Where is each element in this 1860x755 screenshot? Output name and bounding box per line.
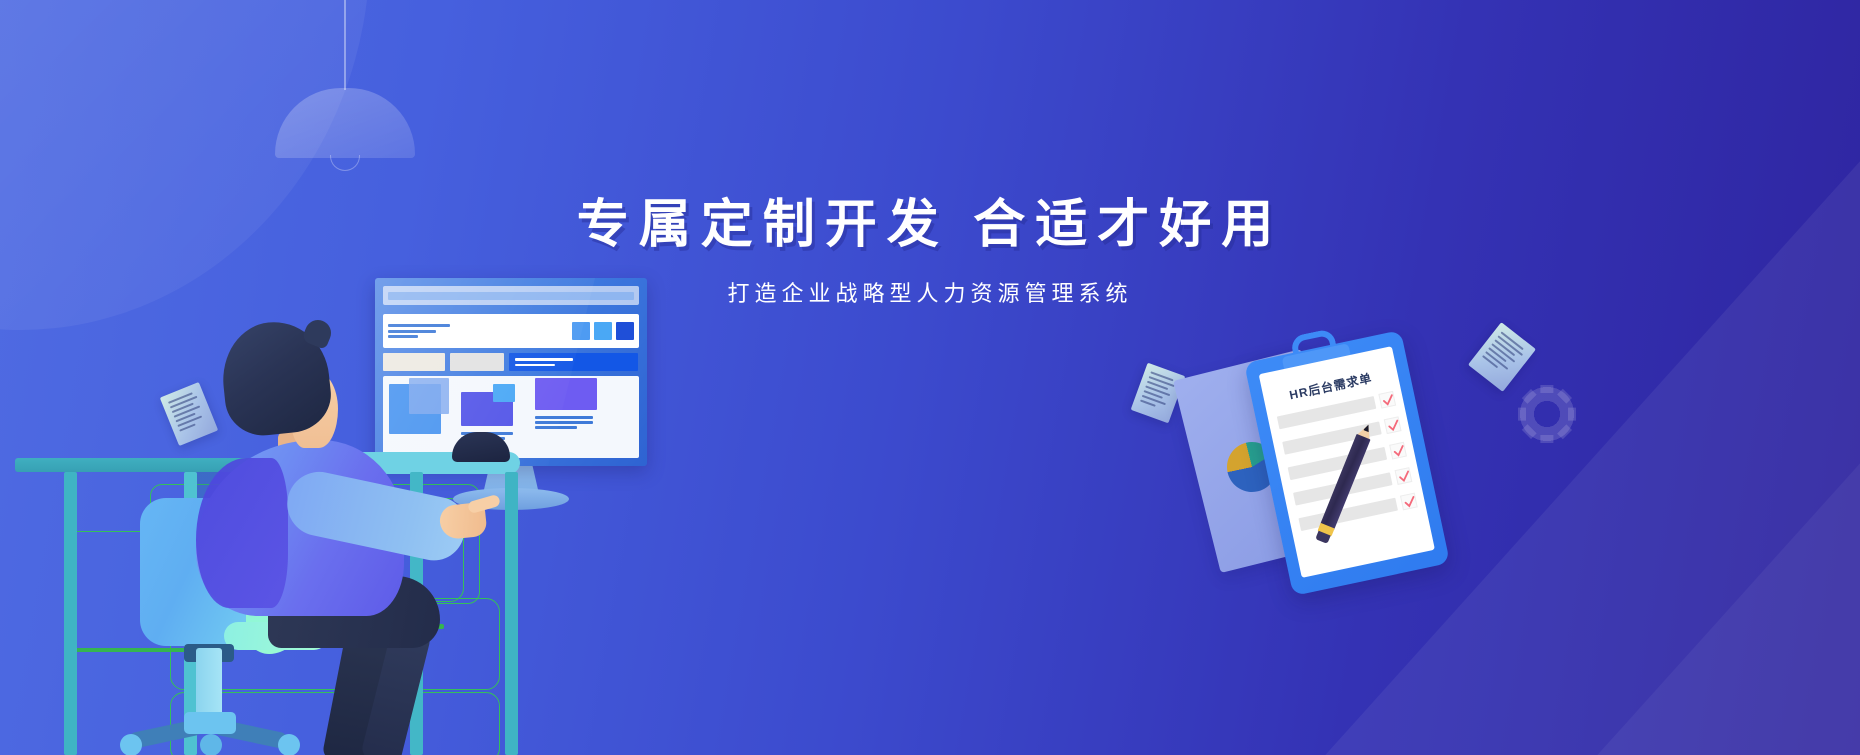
checkbox-checked-icon <box>1378 391 1396 409</box>
headline-block: 专属定制开发 合适才好用 打造企业战略型人力资源管理系统 <box>0 196 1860 308</box>
illustration-developer-at-desk <box>60 300 680 755</box>
toolbar-highlight-block <box>509 353 638 371</box>
chair-wheel <box>120 734 142 755</box>
checkbox-checked-icon <box>1395 467 1413 485</box>
gear-icon <box>1518 385 1576 443</box>
checkbox-checked-icon <box>1384 416 1402 434</box>
color-chip <box>572 322 590 340</box>
checkbox-checked-icon <box>1400 493 1418 511</box>
lamp-cord <box>344 0 346 90</box>
color-chip-group <box>572 322 634 340</box>
person-figure <box>168 308 508 748</box>
illustration-hr-clipboard: HR后台需求单 <box>1185 300 1505 630</box>
color-chip <box>594 322 612 340</box>
checkbox-checked-icon <box>1389 442 1407 460</box>
hero-banner: 专属定制开发 合适才好用 打造企业战略型人力资源管理系统 <box>0 0 1860 755</box>
diagonal-band-shape <box>1488 22 1860 755</box>
banner-subheadline: 打造企业战略型人力资源管理系统 <box>0 276 1860 308</box>
desk-leg <box>64 472 77 755</box>
content-card <box>535 378 597 410</box>
lamp-shade <box>275 88 415 158</box>
color-chip <box>616 322 634 340</box>
banner-headline: 专属定制开发 合适才好用 <box>0 196 1860 256</box>
person-torso-shading <box>196 458 288 608</box>
lamp-bulb <box>330 155 360 171</box>
placeholder-text-lines <box>535 416 593 429</box>
